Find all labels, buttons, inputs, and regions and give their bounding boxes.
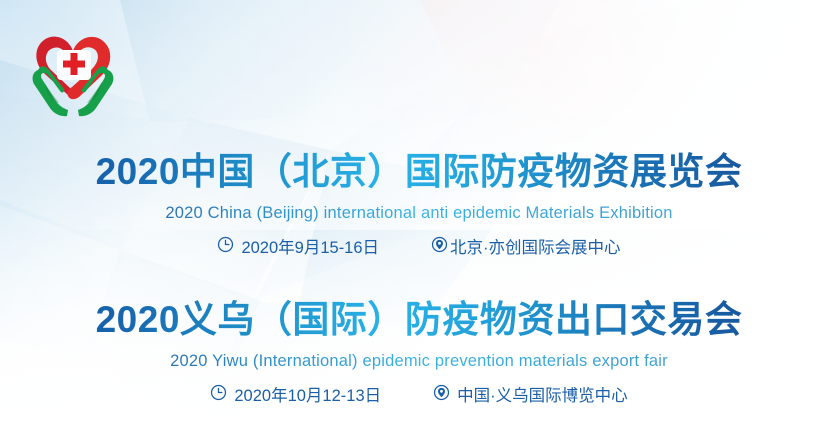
clock-icon xyxy=(217,236,234,259)
clock-icon xyxy=(210,384,227,407)
event-location-text-yiwu: 中国·义乌国际博览中心 xyxy=(457,385,628,407)
event-date-yiwu: 2020年10月12-13日 xyxy=(210,384,381,407)
event-date-text-yiwu: 2020年10月12-13日 xyxy=(234,385,381,407)
event-date-beijing: 2020年9月15-16日 xyxy=(217,236,379,259)
event-location-beijing: 北京·亦创国际会展中心 xyxy=(431,236,621,259)
event-title-beijing: 2020中国（北京）国际防疫物资展览会 xyxy=(0,148,838,196)
event-subtitle-beijing: 2020 China (Beijing) international anti … xyxy=(0,202,838,224)
location-pin-icon xyxy=(431,236,448,259)
event-meta-beijing: 2020年9月15-16日 北京·亦创国际会展中心 xyxy=(0,236,838,259)
event-banner: 2020中国（北京）国际防疫物资展览会 2020 China (Beijing)… xyxy=(0,0,838,445)
event-meta-yiwu: 2020年10月12-13日 中国·义乌国际博览中心 xyxy=(0,384,838,407)
heart-cross-hands-logo xyxy=(22,20,124,124)
event-location-yiwu: 中国·义乌国际博览中心 xyxy=(433,384,628,407)
event-block-yiwu: 2020义乌（国际）防疫物资出口交易会 2020 Yiwu (Internati… xyxy=(0,296,838,407)
event-subtitle-yiwu: 2020 Yiwu (International) epidemic preve… xyxy=(0,350,838,372)
event-block-beijing: 2020中国（北京）国际防疫物资展览会 2020 China (Beijing)… xyxy=(0,148,838,259)
event-date-text-beijing: 2020年9月15-16日 xyxy=(241,237,379,259)
event-location-text-beijing: 北京·亦创国际会展中心 xyxy=(450,237,621,259)
location-pin-icon xyxy=(433,384,450,407)
event-title-yiwu: 2020义乌（国际）防疫物资出口交易会 xyxy=(0,296,838,344)
